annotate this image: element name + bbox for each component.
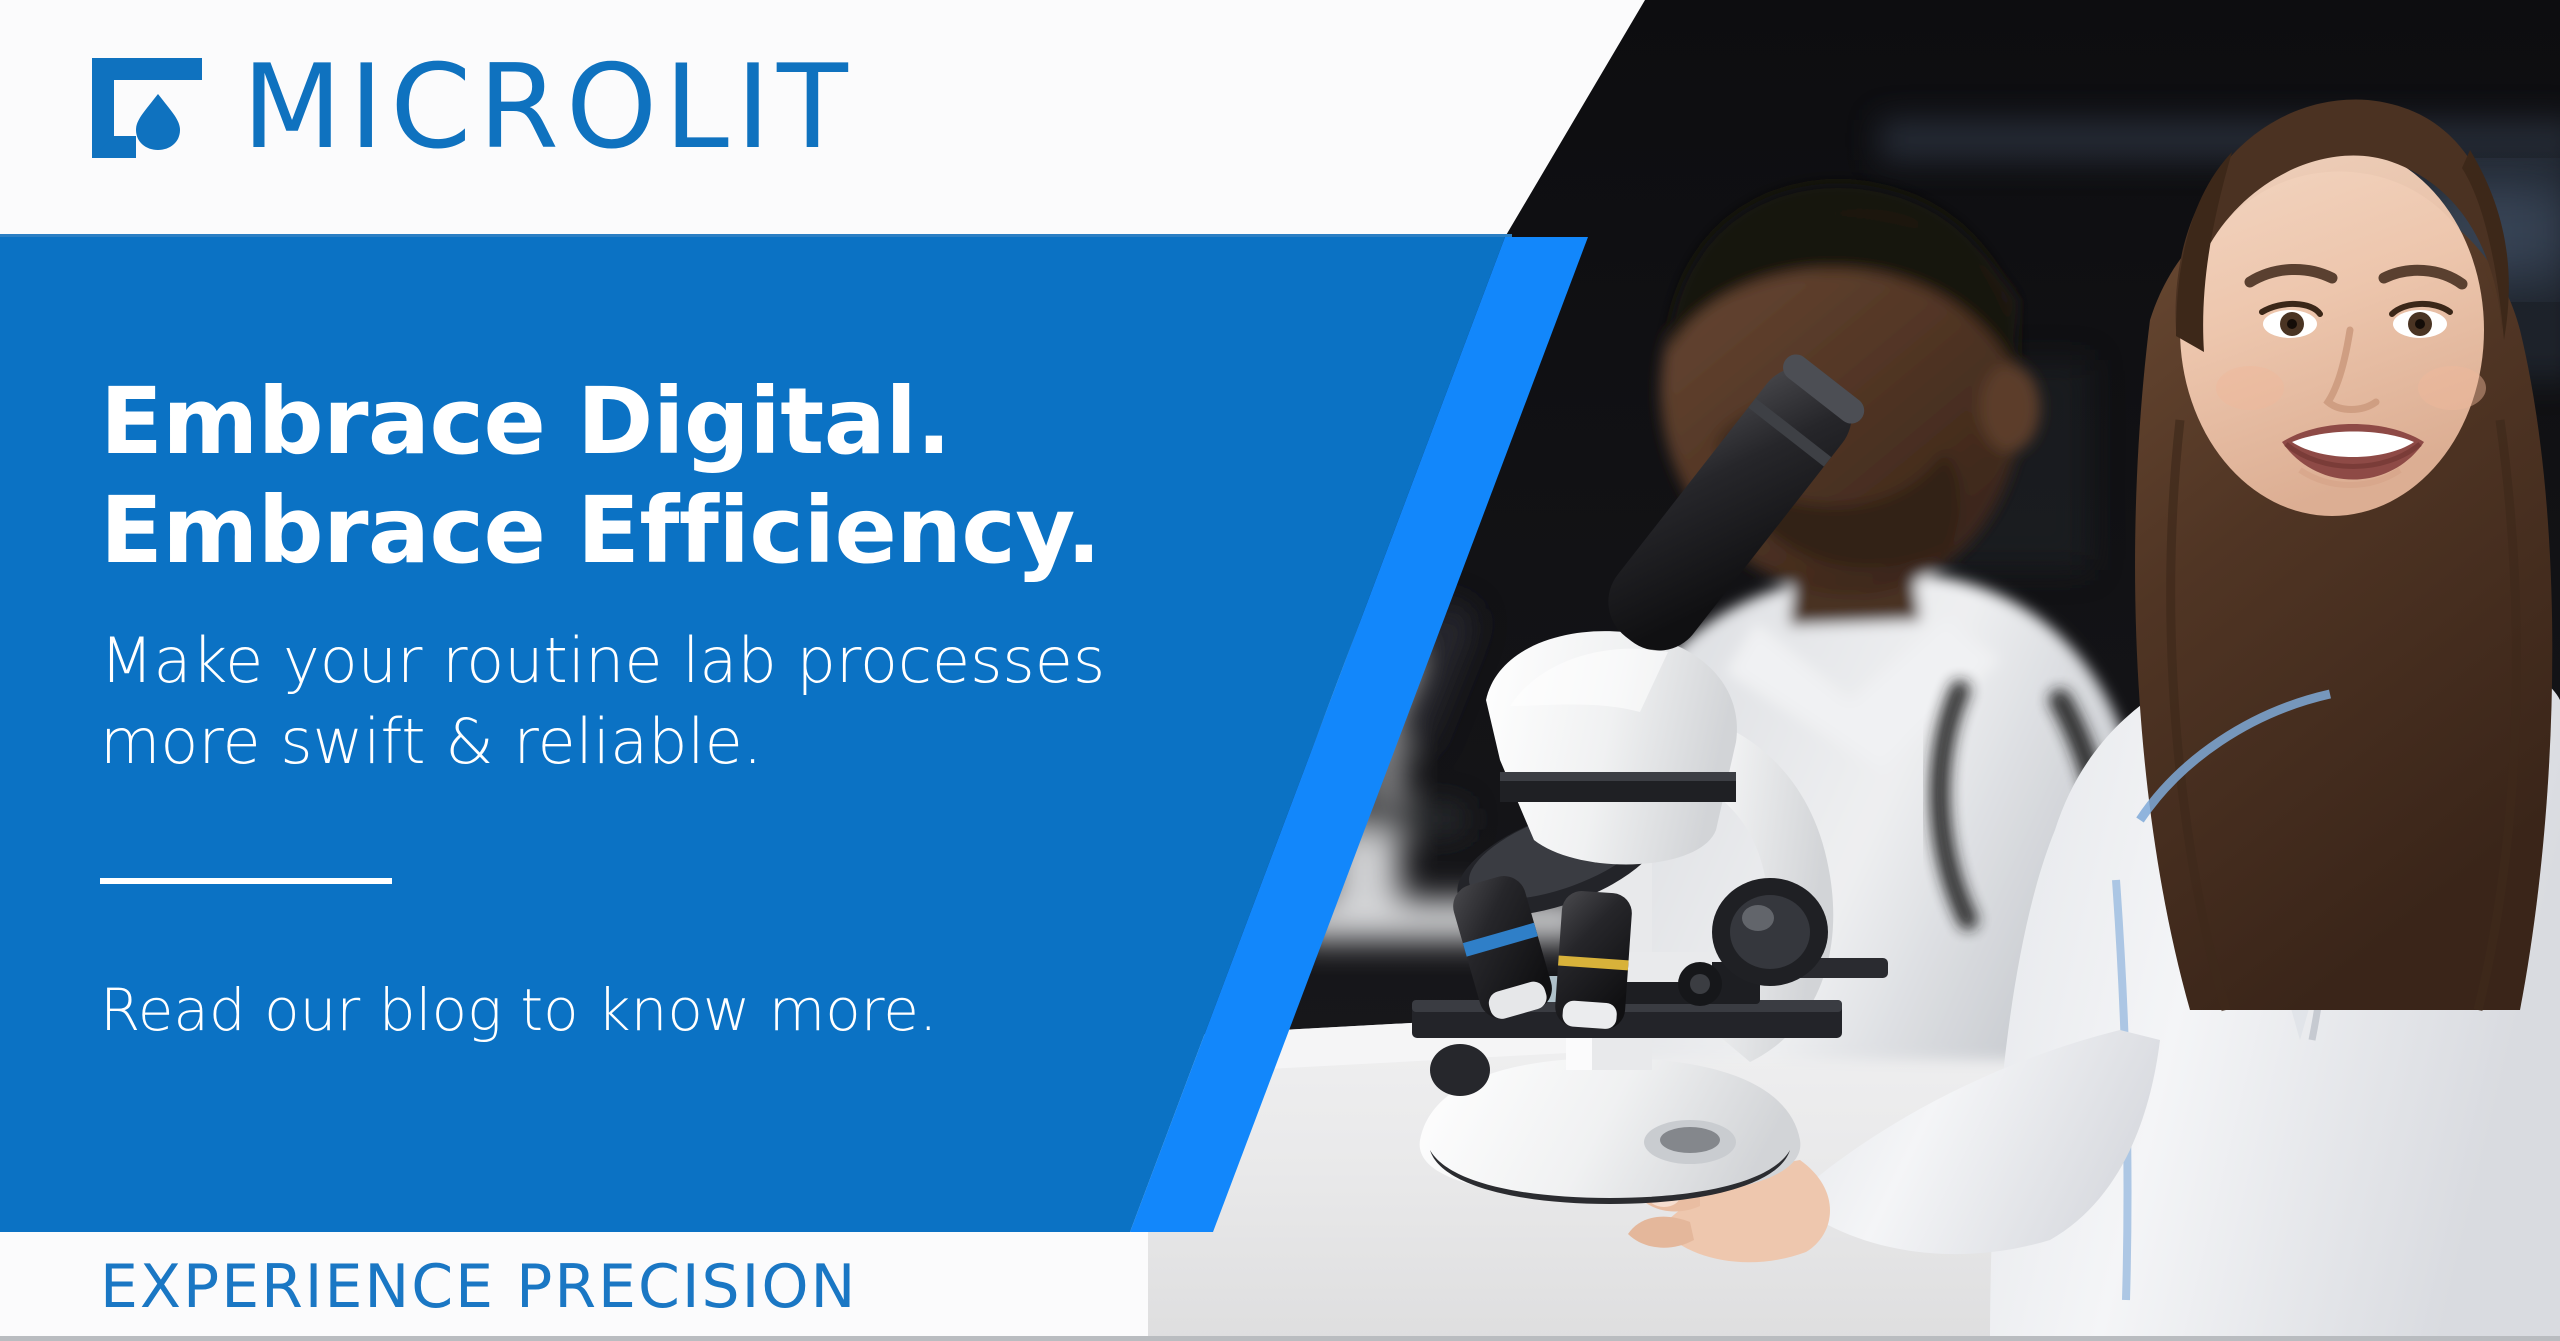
brand-tagline: EXPERIENCE PRECISION	[100, 1257, 857, 1317]
droplet-in-square-icon	[88, 54, 206, 162]
subheadline-line-2: more swift & reliable.	[100, 702, 1160, 783]
marketing-banner: MICROLIT Embrace Digital. Embrace Effici…	[0, 0, 2560, 1341]
footer-bottom-rule	[0, 1336, 2560, 1341]
headline-line-1: Embrace Digital.	[100, 368, 1160, 477]
subheadline: Make your routine lab processes more swi…	[100, 585, 1160, 782]
cta-text[interactable]: Read our blog to know more.	[100, 884, 1160, 1046]
headline-line-2: Embrace Efficiency.	[100, 477, 1160, 586]
hero-copy: Embrace Digital. Embrace Efficiency. Mak…	[100, 368, 1160, 1046]
brand-name: MICROLIT	[242, 50, 855, 166]
header-divider-rule	[0, 234, 1512, 237]
brand-logo[interactable]: MICROLIT	[88, 50, 855, 166]
headline: Embrace Digital. Embrace Efficiency.	[100, 368, 1160, 585]
subheadline-line-1: Make your routine lab processes	[100, 621, 1160, 702]
